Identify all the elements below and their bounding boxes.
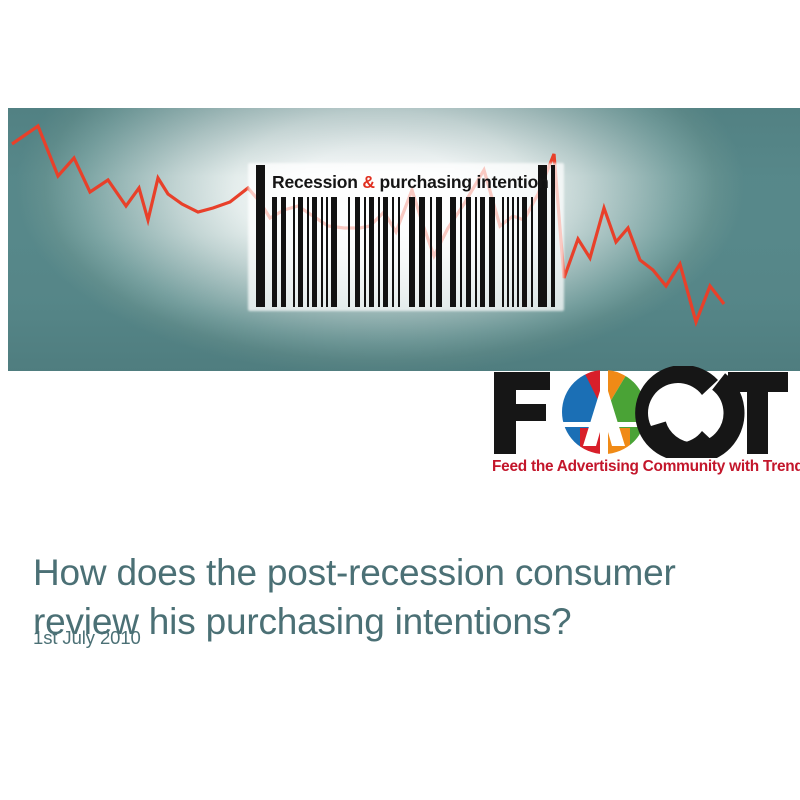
hero-banner: Recession & purchasing intention [8, 108, 800, 371]
barcode-bar [272, 197, 277, 307]
barcode-bar [409, 197, 415, 307]
barcode-bar [475, 197, 477, 307]
barcode-bar [326, 197, 328, 307]
barcode-bar [312, 197, 317, 307]
fact-logo: Feed the Advertising Community with Tren… [488, 366, 794, 482]
barcode-graphic: Recession & purchasing intention [248, 163, 564, 311]
barcode-bar [398, 197, 400, 307]
barcode-bar [348, 197, 350, 307]
barcode-bar [419, 197, 425, 307]
barcode-bar [378, 197, 380, 307]
barcode-bar [512, 197, 514, 307]
barcode-bar [531, 197, 533, 307]
barcode-bar [369, 197, 374, 307]
barcode-bar-field [272, 197, 534, 307]
barcode-bar [307, 197, 309, 307]
logo-letter-f [494, 372, 550, 454]
barcode-content: Recession & purchasing intention [248, 163, 564, 311]
page-title-line-2: review his purchasing intentions? [33, 597, 763, 646]
barcode-guard-bar-right-thin [551, 165, 555, 307]
barcode-guard-bar-left [256, 165, 265, 307]
barcode-bar [522, 197, 527, 307]
barcode-bar [293, 197, 295, 307]
barcode-title: Recession & purchasing intention [272, 169, 534, 195]
barcode-bar [450, 197, 456, 307]
barcode-title-suffix: purchasing intention [375, 172, 549, 192]
page-title: How does the post-recession consumer rev… [33, 548, 763, 646]
barcode-bar [507, 197, 509, 307]
barcode-bar [281, 197, 286, 307]
barcode-bar [355, 197, 360, 307]
barcode-bar [430, 197, 432, 307]
logo-letter-a-mark [562, 366, 648, 458]
fact-logo-tagline: Feed the Advertising Community with Tren… [492, 456, 794, 478]
barcode-bar [517, 197, 519, 307]
barcode-bar [392, 197, 394, 307]
barcode-bar [321, 197, 323, 307]
barcode-bar [502, 197, 504, 307]
publication-date: 1st July 2010 [33, 626, 141, 650]
slide-canvas: Recession & purchasing intention [0, 0, 800, 800]
barcode-title-ampersand: & [362, 172, 374, 192]
barcode-bar [489, 197, 495, 307]
barcode-bar [364, 197, 366, 307]
barcode-bar [460, 197, 462, 307]
fact-logo-wordmark [488, 366, 794, 458]
barcode-bar [436, 197, 442, 307]
barcode-bar [466, 197, 471, 307]
barcode-bar [383, 197, 388, 307]
barcode-bar [298, 197, 303, 307]
barcode-bar [331, 197, 337, 307]
barcode-title-prefix: Recession [272, 172, 362, 192]
barcode-bar [480, 197, 485, 307]
page-title-line-1: How does the post-recession consumer [33, 548, 763, 597]
